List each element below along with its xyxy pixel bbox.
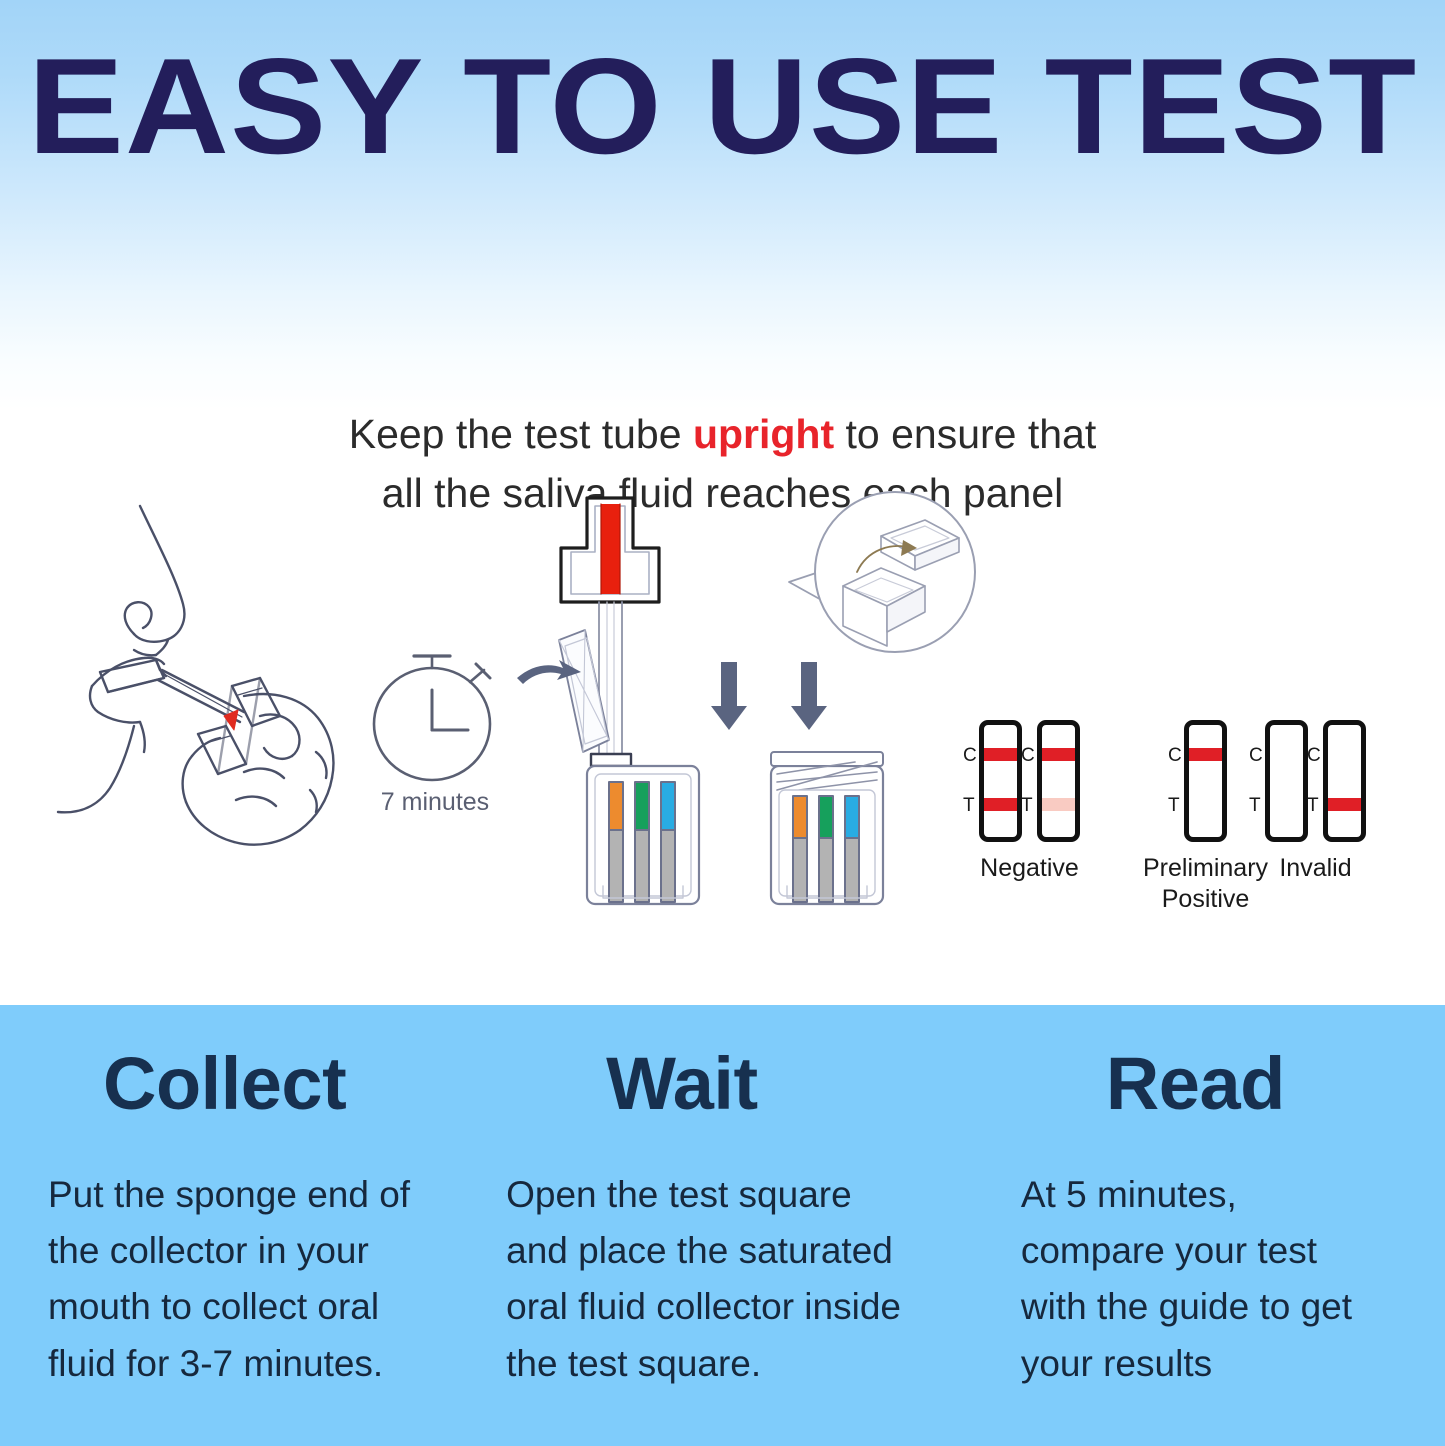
test-label: T — [963, 795, 975, 817]
cassette-single: C T — [1184, 720, 1227, 842]
step-heading-read: Read — [1021, 1047, 1445, 1121]
steps-columns: Collect Put the sponge end of the collec… — [0, 1005, 1445, 1446]
control-label: C — [1249, 745, 1263, 767]
result-caption-invalid: Invalid — [1279, 853, 1351, 884]
cassette-negative-2: C T — [1037, 720, 1080, 842]
headline-text-after: to ensure that — [834, 411, 1096, 457]
headline-line1: Keep the test tube upright to ensure tha… — [349, 411, 1097, 457]
step-body-wait: Open the test square and place the satur… — [506, 1167, 991, 1392]
test-device-closed — [771, 752, 883, 904]
cassette-invalid-2: C T — [1323, 720, 1366, 842]
step-heading-collect: Collect — [48, 1047, 486, 1121]
instruction-panel: Keep the test tube upright to ensure tha… — [0, 330, 1445, 1005]
test-label: T — [1249, 795, 1261, 817]
test-label: T — [1307, 795, 1319, 817]
test-strips-closed — [793, 796, 859, 902]
test-tube-illustration — [525, 490, 945, 910]
page-title: EASY TO USE TEST — [0, 38, 1445, 174]
cassette-negative-1: C T — [979, 720, 1022, 842]
test-line-faint — [1042, 798, 1075, 811]
timer-illustration: 7 minutes — [340, 640, 530, 830]
insert-arrow-1 — [711, 662, 747, 730]
control-line — [1042, 748, 1075, 761]
illustration-stage: 7 minutes — [0, 490, 1445, 1050]
step-collect: Collect Put the sponge end of the collec… — [0, 1005, 486, 1446]
device-lid-open — [559, 630, 609, 752]
cassette-pair: C T C T — [979, 720, 1080, 842]
control-label: C — [1021, 745, 1035, 767]
test-device-open — [587, 766, 699, 904]
ct-labels: C T — [1021, 725, 1037, 847]
headline-text-before: Keep the test tube — [349, 411, 693, 457]
cap-close-callout — [789, 492, 975, 652]
headline-emphasis: upright — [693, 411, 834, 457]
control-label: C — [963, 745, 977, 767]
ct-labels: C T — [963, 725, 979, 847]
results-row: C T C T — [975, 720, 1415, 870]
results-guide: C T C T — [975, 720, 1415, 950]
result-caption-negative: Negative — [980, 853, 1079, 884]
result-group-negative: C T C T — [979, 720, 1080, 884]
step-body-read: At 5 minutes, compare your test with the… — [1021, 1167, 1445, 1392]
test-label: T — [1168, 795, 1180, 817]
step-body-collect: Put the sponge end of the collector in y… — [48, 1167, 486, 1392]
insert-arrow-2 — [791, 662, 827, 730]
timer-label: 7 minutes — [340, 788, 530, 817]
tube-cap — [561, 498, 659, 602]
cassette-preliminary-positive: C T — [1184, 720, 1227, 842]
step-heading-wait: Wait — [506, 1047, 991, 1121]
step-wait: Wait Open the test square and place the … — [486, 1005, 991, 1446]
test-label: T — [1021, 795, 1033, 817]
steps-panel: Collect Put the sponge end of the collec… — [0, 1005, 1445, 1446]
fluid-indicator — [601, 504, 620, 594]
ct-labels: C T — [1168, 725, 1184, 847]
cassette-invalid-1: C T — [1265, 720, 1308, 842]
cassette-pair: C T C T — [1265, 720, 1366, 842]
control-line — [984, 748, 1017, 761]
step-read: Read At 5 minutes, compare your test wit… — [991, 1005, 1445, 1446]
control-line — [1189, 748, 1222, 761]
control-label: C — [1307, 745, 1321, 767]
control-label: C — [1168, 745, 1182, 767]
result-caption-preliminary-positive: Preliminary Positive — [1143, 853, 1268, 916]
ct-labels: C T — [1307, 725, 1323, 847]
result-group-invalid: C T C T Invalid — [1265, 720, 1366, 884]
ct-labels: C T — [1249, 725, 1265, 847]
test-line — [1328, 798, 1361, 811]
test-strips — [609, 782, 675, 902]
test-line — [984, 798, 1017, 811]
